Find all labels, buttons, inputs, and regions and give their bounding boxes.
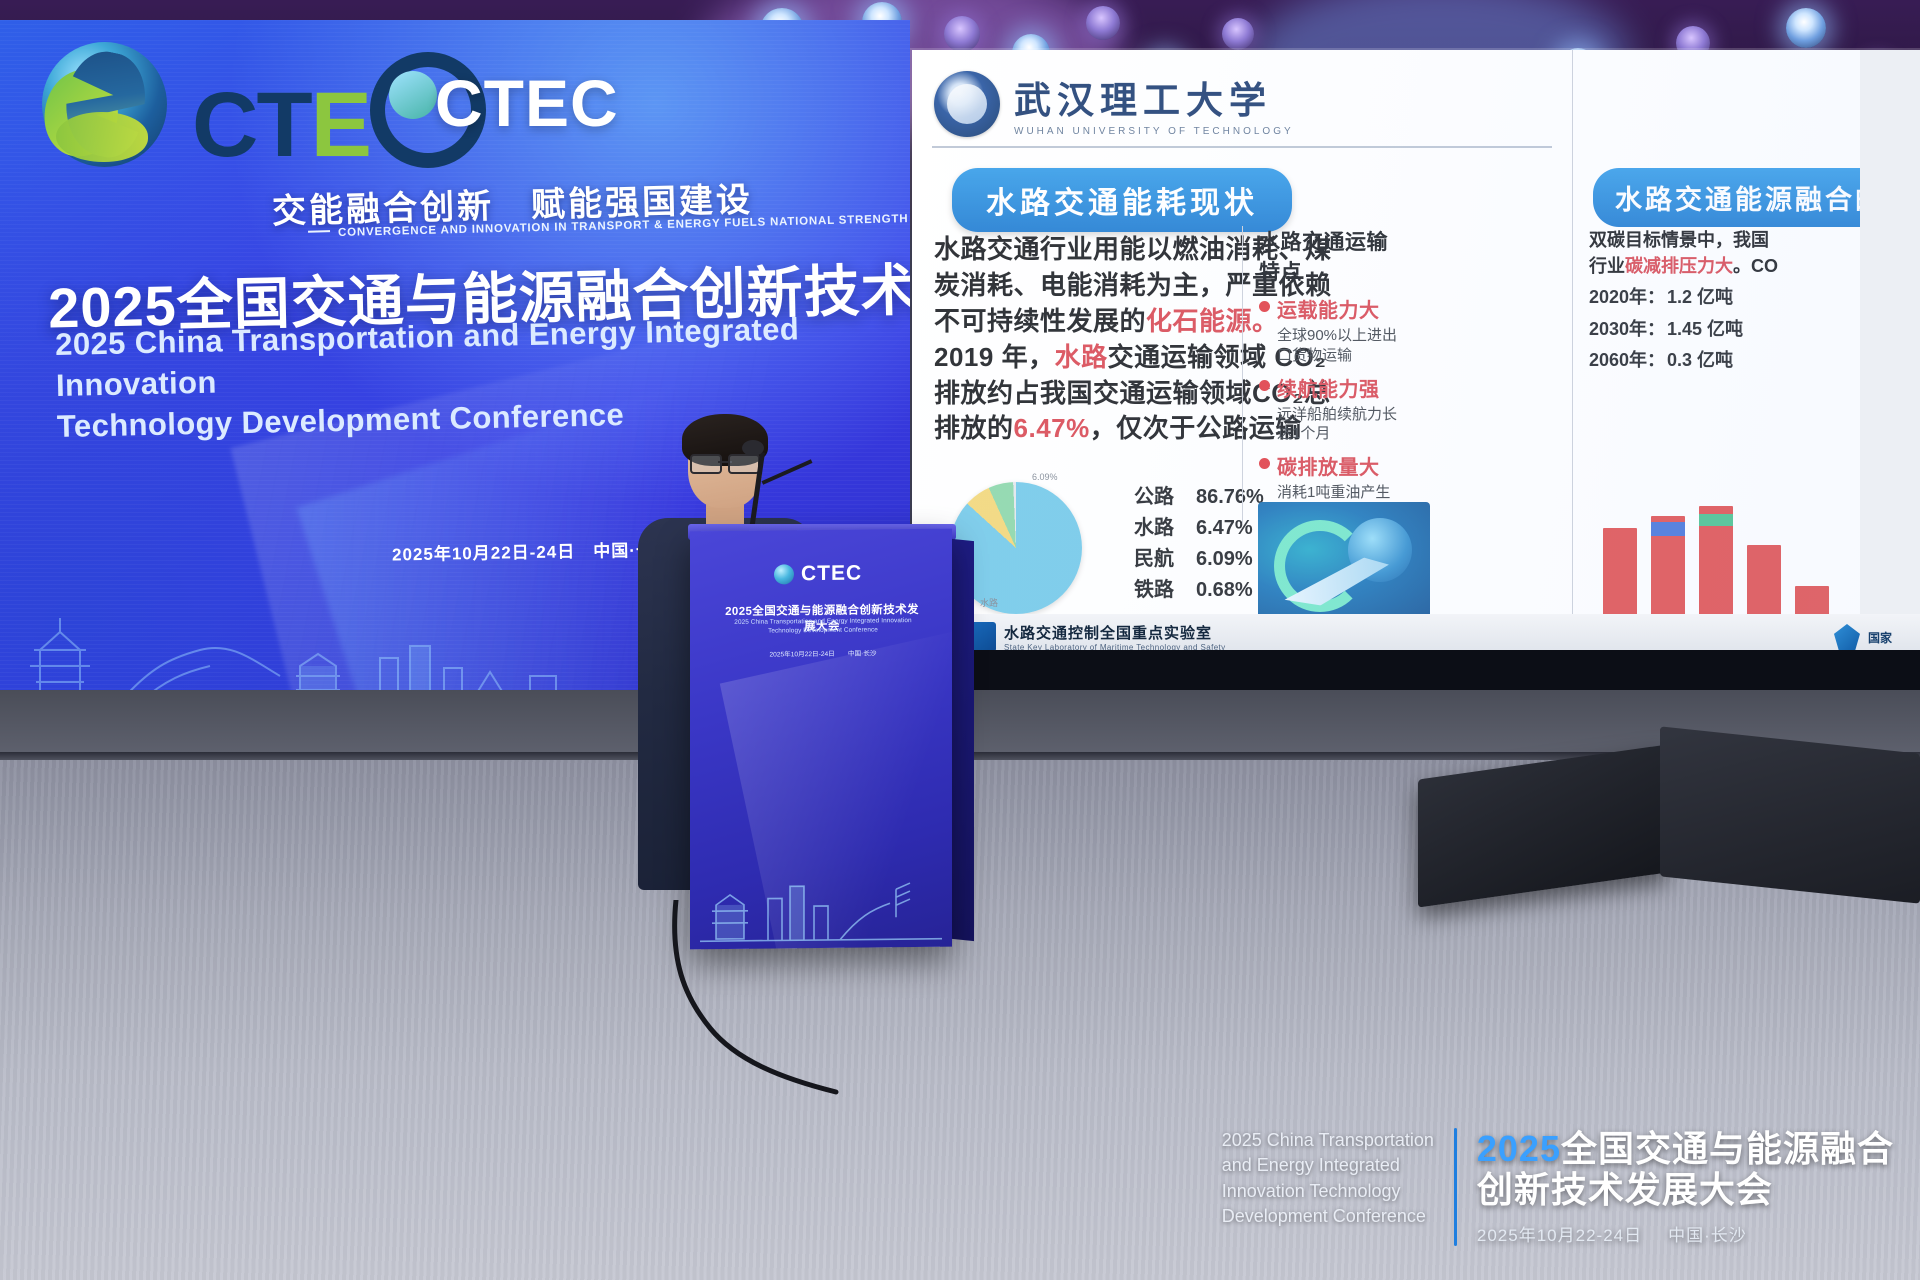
bullet-main-0: 运载能力大 <box>1277 294 1380 323</box>
conference-photo: CTE CTEC 交能融合创新 赋能强国建设 CONVERGENCE AND I… <box>0 0 1920 1280</box>
overlay-en-line4: Development Conference <box>1222 1204 1434 1230</box>
lab-logo-group: 水路交通控制全国重点实验室 State Key Laboratory of Ma… <box>966 622 1226 652</box>
year-label-2: 2060年： <box>1589 348 1667 374</box>
university-name-en: WUHAN UNIVERSITY OF TECHNOLOGY <box>1014 126 1294 137</box>
legend-key-1: 水路 <box>1134 513 1196 544</box>
sponsor-right-group: 国家 <box>1834 624 1892 650</box>
microphone-head-icon <box>742 440 764 456</box>
bullet-sub-0: 全球90%以上进出口货物运输 <box>1277 326 1409 366</box>
year-label-0: 2020年： <box>1589 285 1667 311</box>
overlay-en-line2: and Energy Integrated <box>1222 1153 1434 1179</box>
pie-slice-label-0: 6.09% <box>1032 472 1058 482</box>
bar-chart <box>1595 502 1895 622</box>
university-name-cn: 武汉理工大学 <box>1014 70 1294 124</box>
slide-divider <box>932 146 1552 148</box>
university-branding: 武汉理工大学 WUHAN UNIVERSITY OF TECHNOLOGY <box>934 70 1294 137</box>
overlay-chinese-block: 2025全国交通与能源融合 创新技术发展大会 2025年10月22-24日中国·… <box>1477 1128 1894 1247</box>
university-seal-icon <box>934 71 1000 137</box>
screen-edge-panel <box>1860 50 1920 650</box>
overlay-date-location: 2025年10月22-24日中国·长沙 <box>1477 1221 1894 1246</box>
stage-light <box>1786 8 1826 48</box>
podium-logo-text: CTEC <box>801 562 862 587</box>
bar-2-segment <box>1699 514 1733 526</box>
overlay-date: 2025年10月22-24日 <box>1477 1226 1642 1245</box>
legend-key-2: 民航 <box>1134 544 1196 575</box>
overlay-cn-line1: 全国交通与能源融合 <box>1561 1128 1894 1169</box>
bullet-sub-1: 远洋船舶续航力长达1个月 <box>1277 405 1409 445</box>
pie-center-label: 水路 <box>980 596 998 609</box>
mid-column-heading: 水路交通运输特点 <box>1259 226 1409 286</box>
sponsor-shield-icon <box>1834 624 1860 650</box>
bullet-main-1: 续航能力强 <box>1277 373 1380 402</box>
stage-monitor-speaker-2 <box>1660 726 1920 903</box>
para-line-6a: 排放的 <box>934 413 1014 443</box>
presentation-screen: 武汉理工大学 WUHAN UNIVERSITY OF TECHNOLOGY 水路… <box>912 50 1920 650</box>
year-value-0: 1.2 亿吨 <box>1667 287 1733 307</box>
bullet-item: 续航能力强 <box>1259 373 1409 402</box>
overlay-year: 2025 <box>1477 1128 1561 1169</box>
legend-key-3: 铁路 <box>1134 575 1196 606</box>
stage-light <box>1222 18 1254 50</box>
lab-name-cn: 水路交通控制全国重点实验室 <box>1004 622 1226 643</box>
year-value-2: 0.3 亿吨 <box>1667 350 1733 370</box>
speaker-glasses <box>690 454 760 470</box>
backdrop-date-location: 2025年10月22日-24日 中国·长沙 <box>392 536 672 566</box>
para-line-3a: 不可持续性发展的 <box>934 306 1146 336</box>
overlay-en-line3: Innovation Technology <box>1222 1179 1434 1205</box>
bullet-main-2: 碳排放量大 <box>1277 451 1380 480</box>
bullet-item: 运载能力大 <box>1259 294 1409 323</box>
bar-3 <box>1747 545 1781 622</box>
co2-illustration <box>1258 502 1430 620</box>
podium-logo: CTEC <box>774 562 862 587</box>
bar-1-segment <box>1651 522 1685 536</box>
bullet-dot-icon <box>1259 458 1270 469</box>
bullet-item: 碳排放量大 <box>1259 451 1409 480</box>
podium-date-location: 2025年10月22日-24日 中国·长沙 <box>728 647 918 659</box>
bullet-dot-icon <box>1259 380 1270 391</box>
stage-wall-shadow <box>910 650 1920 690</box>
stage-light <box>944 16 980 52</box>
overlay-english-title: 2025 China Transportation and Energy Int… <box>1222 1128 1434 1230</box>
overlay-cn-line2: 创新技术发展大会 <box>1477 1169 1894 1211</box>
slide-mid-column: 水路交通运输特点 运载能力大 全球90%以上进出口货物运输 续航能力强 远洋船舶… <box>1242 226 1409 523</box>
para-line-4a: 2019 年， <box>934 342 1055 372</box>
slide-title: 水路交通能耗现状 <box>952 168 1292 232</box>
year-label-1: 2030年： <box>1589 317 1667 343</box>
slide-left-panel: 武汉理工大学 WUHAN UNIVERSITY OF TECHNOLOGY 水路… <box>912 50 1573 650</box>
right-para-highlight: 碳减排压力大 <box>1625 256 1733 276</box>
overlay-cn-line1-wrap: 2025全国交通与能源融合 <box>1477 1128 1894 1170</box>
overlay-location: 中国·长沙 <box>1668 1226 1747 1245</box>
podium-side <box>952 539 974 941</box>
overlay-branding: 2025 China Transportation and Energy Int… <box>1222 1128 1894 1247</box>
legend-key-0: 公路 <box>1134 482 1196 513</box>
overlay-en-line1: 2025 China Transportation <box>1222 1128 1434 1154</box>
year-value-1: 1.45 亿吨 <box>1667 319 1743 339</box>
sponsor-right-label: 国家 <box>1868 629 1892 646</box>
right-para-line-2a: 行业 <box>1589 256 1625 276</box>
podium: CTEC 2025全国交通与能源融合创新技术发展大会 2025 China Tr… <box>690 529 952 950</box>
ctec-wordmark-secondary: CTEC <box>435 65 619 141</box>
ctec-logo-mark <box>42 42 167 167</box>
podium-logo-mark-icon <box>774 564 794 584</box>
stage-light <box>1086 6 1120 40</box>
bullet-dot-icon <box>1259 301 1270 312</box>
bar-0 <box>1603 528 1637 622</box>
right-para-line-2b: 。CO <box>1733 256 1778 276</box>
podium-title-en: 2025 China Transportation and Energy Int… <box>730 617 916 636</box>
floor-cable <box>640 900 940 1100</box>
para-line-6-highlight: 6.47% <box>1014 413 1090 443</box>
overlay-divider <box>1454 1128 1457 1247</box>
para-line-4-highlight: 水路 <box>1055 342 1108 372</box>
